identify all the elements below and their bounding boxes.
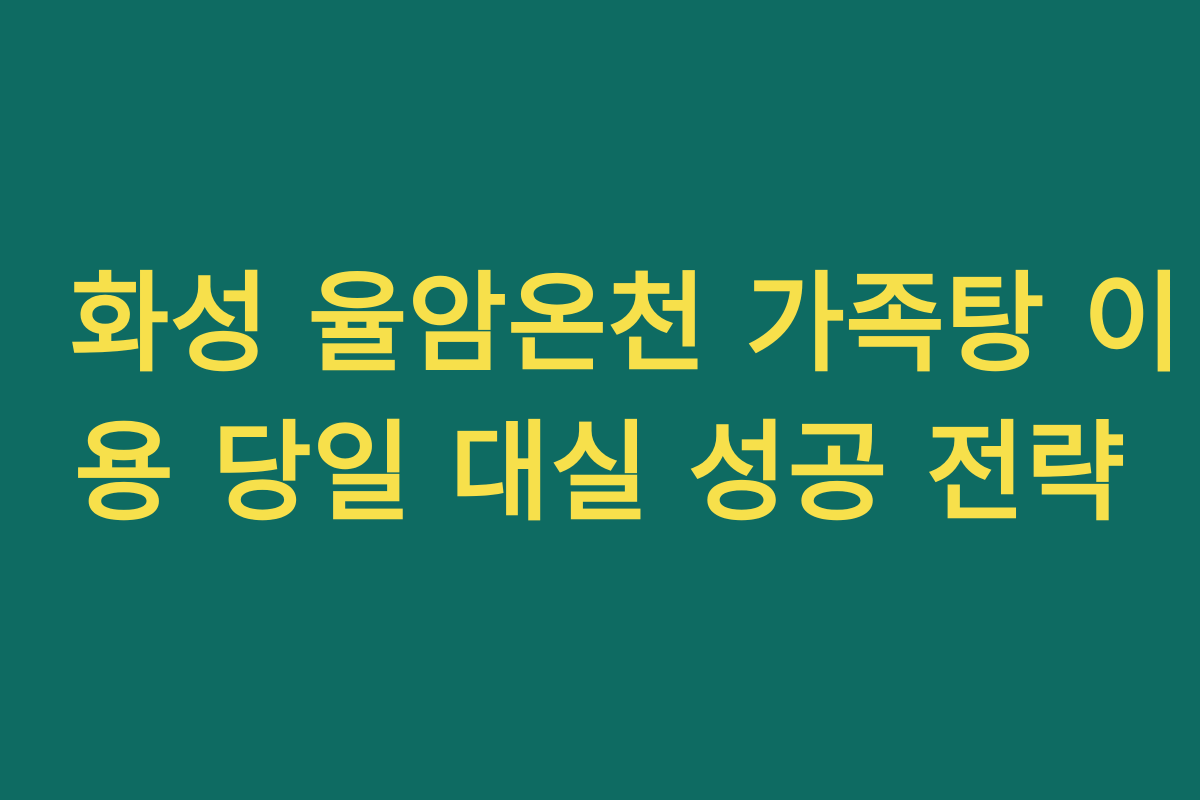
title-block: 화성 율암온천 가족탕 이 용 당일 대실 성공 전략 (70, 254, 1130, 545)
title-line-1: 화성 율암온천 가족탕 이 (70, 254, 1130, 397)
banner-canvas: 화성 율암온천 가족탕 이 용 당일 대실 성공 전략 (0, 0, 1200, 800)
title-line-2: 용 당일 대실 성공 전략 (70, 403, 1130, 546)
